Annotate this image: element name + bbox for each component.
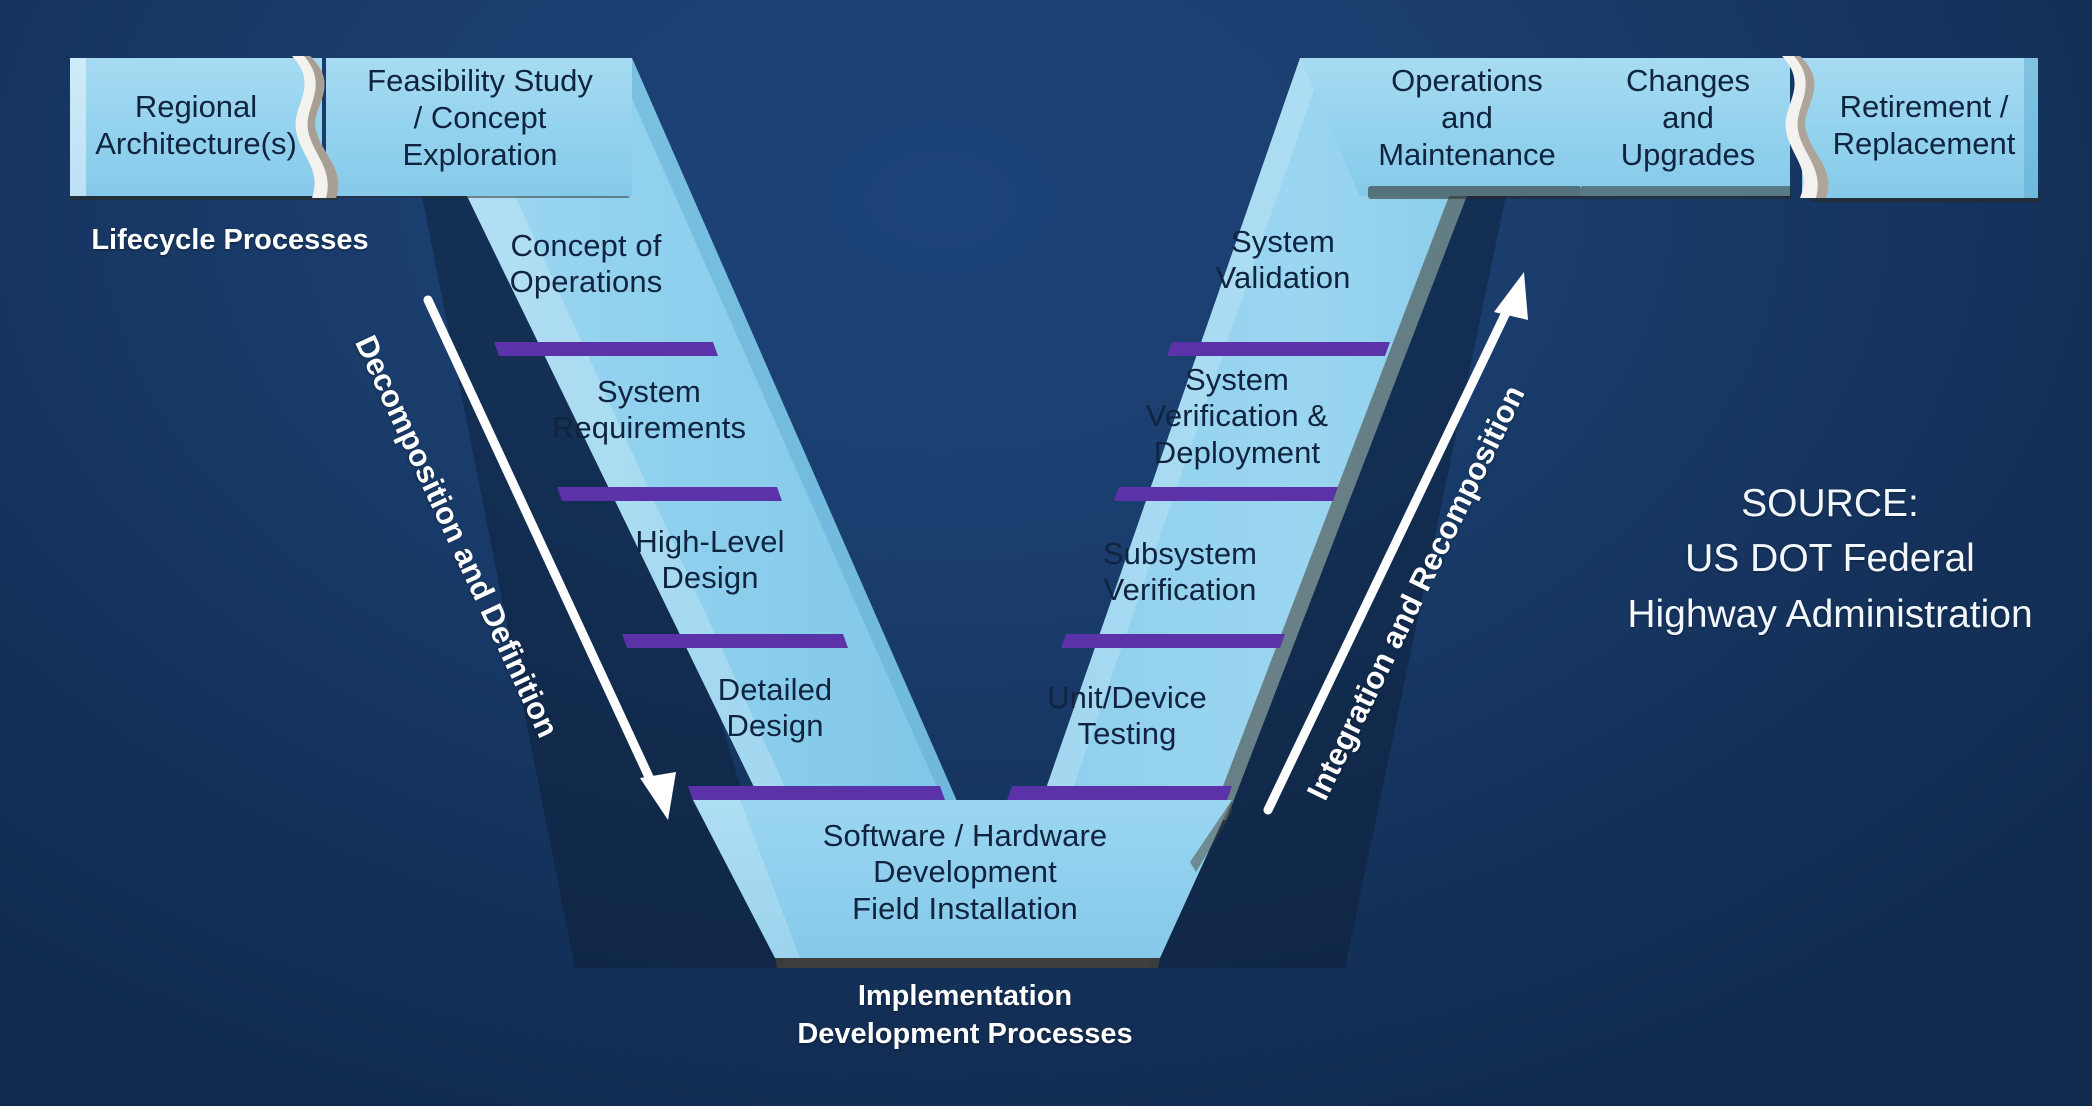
cap-label-retirement-replacement: Retirement / Replacement <box>1812 88 2036 162</box>
label-implementation-development-processes: Implementation Development Processes <box>705 978 1225 1053</box>
label-source-attribution: SOURCE: US DOT Federal Highway Administr… <box>1590 476 2070 642</box>
v-model-diagram: Regional Architecture(s) Feasibility Stu… <box>0 0 2092 1106</box>
label-lifecycle-processes: Lifecycle Processes <box>70 222 390 260</box>
cap-label-operations-maintenance: Operations and Maintenance <box>1348 62 1586 174</box>
cap-label-regional-architectures: Regional Architecture(s) <box>70 88 322 162</box>
cap-label-feasibility-study: Feasibility Study / Concept Exploration <box>334 62 626 174</box>
bottom-panel <box>693 800 1232 968</box>
cap-label-changes-upgrades: Changes and Upgrades <box>1588 62 1788 174</box>
